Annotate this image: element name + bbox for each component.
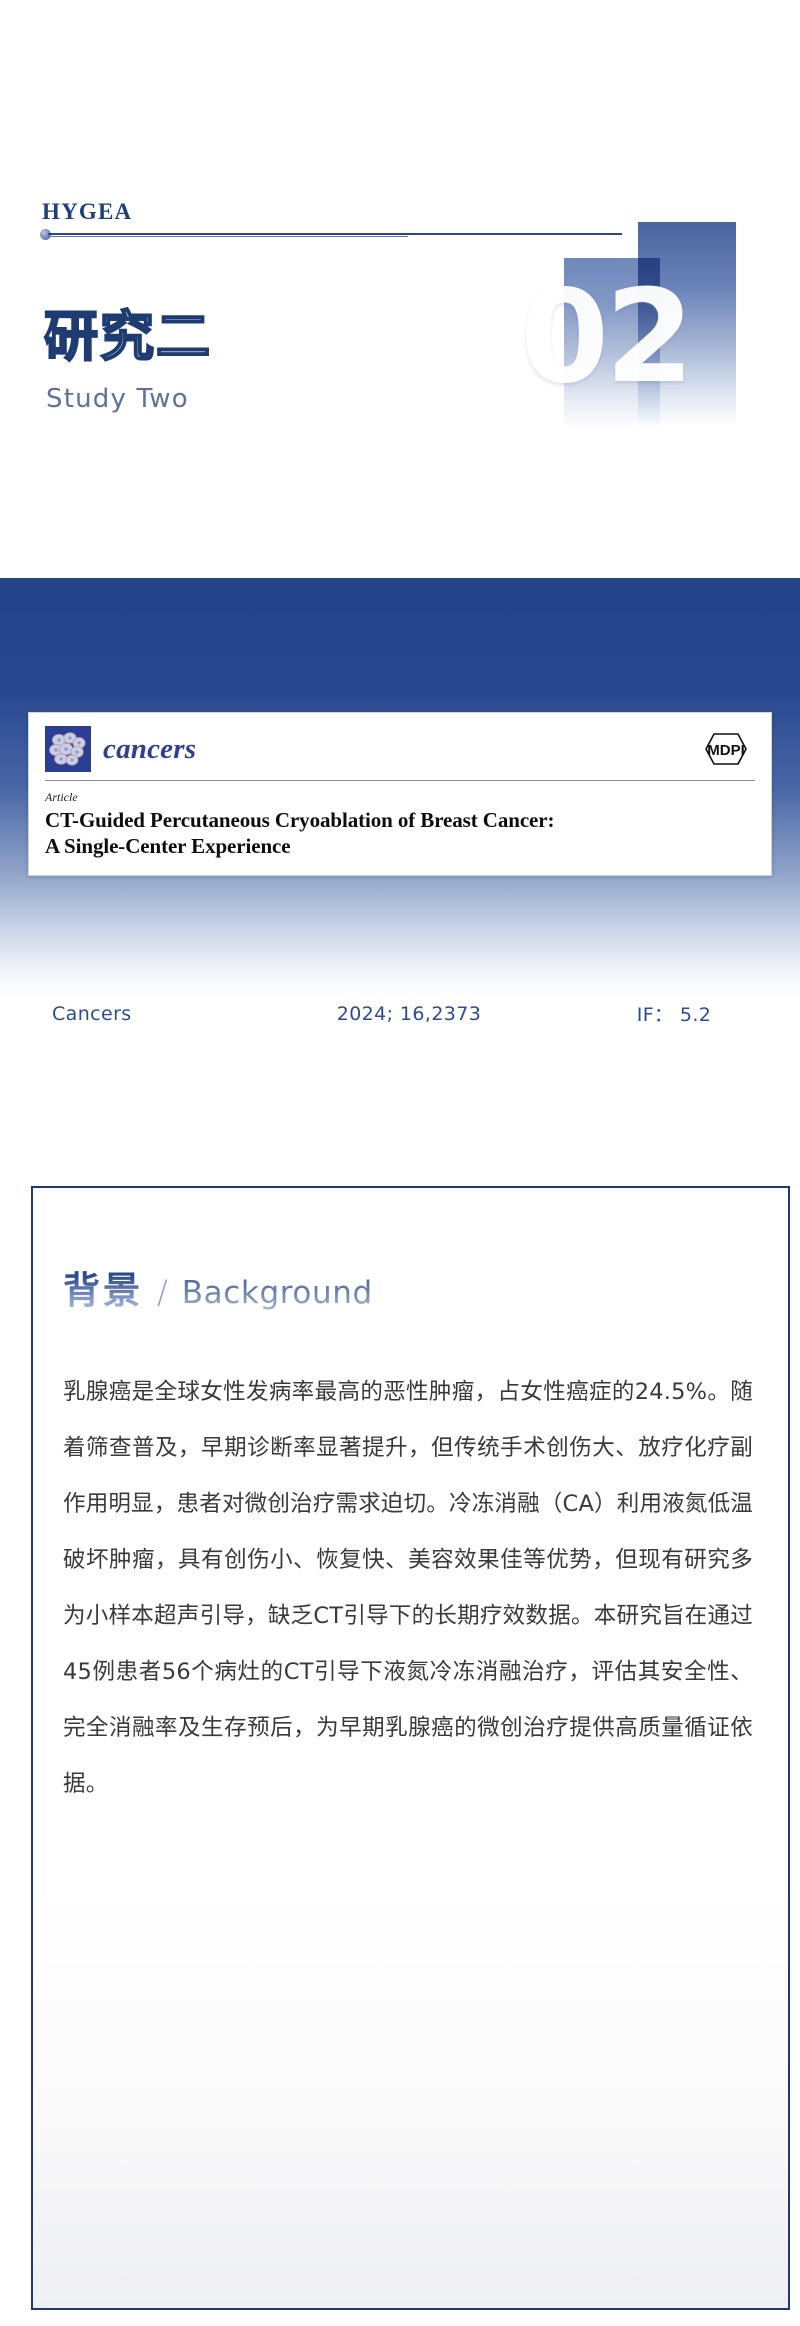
section-heading: 背景 / Background bbox=[63, 1260, 373, 1314]
page-title-en: Study Two bbox=[46, 384, 189, 414]
brand-logo-hygea: HYGEA bbox=[42, 199, 132, 225]
journal-brand-group: cancers bbox=[45, 726, 196, 772]
page-title-cn: 研究二 bbox=[44, 310, 212, 364]
header-divider bbox=[40, 228, 622, 240]
section-heading-cn: 背景 bbox=[63, 1260, 143, 1314]
section-body-text: 乳腺癌是全球女性发病率最高的恶性肿瘤，占女性癌症的24.5%。随着筛查普及，早期… bbox=[63, 1364, 753, 1812]
article-kind-label: Article bbox=[45, 790, 755, 805]
deco-number-label: 02 bbox=[500, 274, 760, 402]
article-title-line1: CT-Guided Percutaneous Cryoablation of B… bbox=[45, 808, 755, 834]
page-header: 02 HYGEA 研究二 Study Two bbox=[0, 0, 800, 578]
cancer-cells-icon bbox=[45, 726, 91, 772]
section-heading-separator: / bbox=[157, 1273, 168, 1311]
journal-card-divider bbox=[45, 780, 755, 781]
journal-article-card: cancers MDPI Article CT-Guided Percutane… bbox=[28, 712, 772, 876]
journal-logo-wordmark: cancers bbox=[103, 733, 196, 766]
decorative-number-block: 02 bbox=[500, 222, 800, 432]
divider-line-secondary bbox=[48, 236, 408, 237]
journal-impact-factor: IF： 5.2 bbox=[548, 1000, 800, 1027]
journal-meta-row: Cancers 2024; 16,2373 IF： 5.2 bbox=[0, 1000, 800, 1027]
mdpi-logo-icon: MDPI bbox=[697, 726, 755, 772]
journal-card-header: cancers MDPI bbox=[45, 725, 755, 773]
svg-text:MDPI: MDPI bbox=[707, 742, 745, 759]
section-heading-en: Background bbox=[182, 1275, 373, 1311]
background-section-box: 背景 / Background 乳腺癌是全球女性发病率最高的恶性肿瘤，占女性癌症… bbox=[31, 1186, 790, 2310]
journal-name: Cancers bbox=[0, 1003, 270, 1025]
article-title-line2: A Single-Center Experience bbox=[45, 834, 755, 860]
divider-line bbox=[48, 233, 622, 235]
journal-citation: 2024; 16,2373 bbox=[270, 1003, 548, 1025]
